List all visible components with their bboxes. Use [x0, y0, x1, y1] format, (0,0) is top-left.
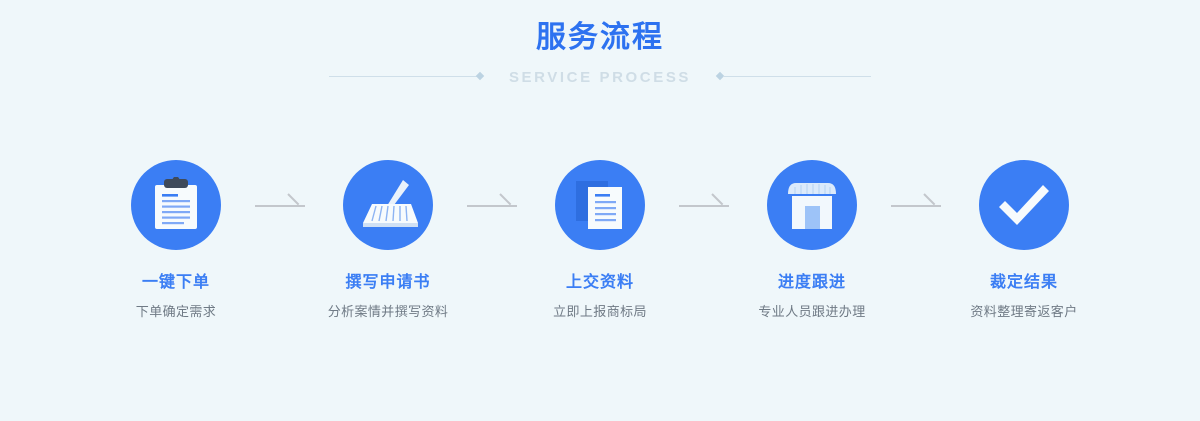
step-3-desc: 立即上报商标局	[525, 303, 675, 321]
process-steps: 一键下单 下单确定需求	[0, 160, 1200, 321]
subtitle-row: SERVICE PROCESS	[0, 66, 1200, 88]
connector-arrow-4	[887, 160, 949, 250]
page-title: 服务流程	[0, 18, 1200, 58]
process-step-4[interactable]: 进度跟进 专业人员跟进办理	[737, 160, 887, 321]
step-2-desc: 分析案情并撰写资料	[313, 303, 463, 321]
decorative-line-right	[717, 72, 871, 82]
step-2-title: 撰写申请书	[313, 273, 463, 293]
service-process-banner: 服务流程 SERVICE PROCESS	[0, 0, 1200, 421]
process-step-3[interactable]: 上交资料 立即上报商标局	[525, 160, 675, 321]
storefront-icon	[784, 179, 840, 231]
clipboard-icon	[149, 177, 203, 233]
step-4-icon-circle	[767, 160, 857, 250]
connector-arrow-1	[251, 160, 313, 250]
step-1-desc: 下单确定需求	[101, 303, 251, 321]
process-step-2[interactable]: 撰写申请书 分析案情并撰写资料	[313, 160, 463, 321]
header: 服务流程 SERVICE PROCESS	[0, 18, 1200, 88]
connector-arrow-3	[675, 160, 737, 250]
step-5-icon-circle	[979, 160, 1069, 250]
connector-arrow-2	[463, 160, 525, 250]
step-2-icon-circle	[343, 160, 433, 250]
page-subtitle: SERVICE PROCESS	[509, 69, 691, 86]
step-5-title: 裁定结果	[949, 273, 1099, 293]
process-step-5[interactable]: 裁定结果 资料整理寄返客户	[949, 160, 1099, 321]
step-4-desc: 专业人员跟进办理	[737, 303, 887, 321]
step-1-icon-circle	[131, 160, 221, 250]
check-icon	[995, 181, 1053, 229]
step-3-icon-circle	[555, 160, 645, 250]
decorative-line-left	[329, 72, 483, 82]
documents-icon	[572, 177, 628, 233]
process-step-1[interactable]: 一键下单 下单确定需求	[101, 160, 251, 321]
step-3-title: 上交资料	[525, 273, 675, 293]
step-1-title: 一键下单	[101, 273, 251, 293]
writing-desk-icon	[357, 176, 419, 234]
step-4-title: 进度跟进	[737, 273, 887, 293]
step-5-desc: 资料整理寄返客户	[949, 303, 1099, 321]
